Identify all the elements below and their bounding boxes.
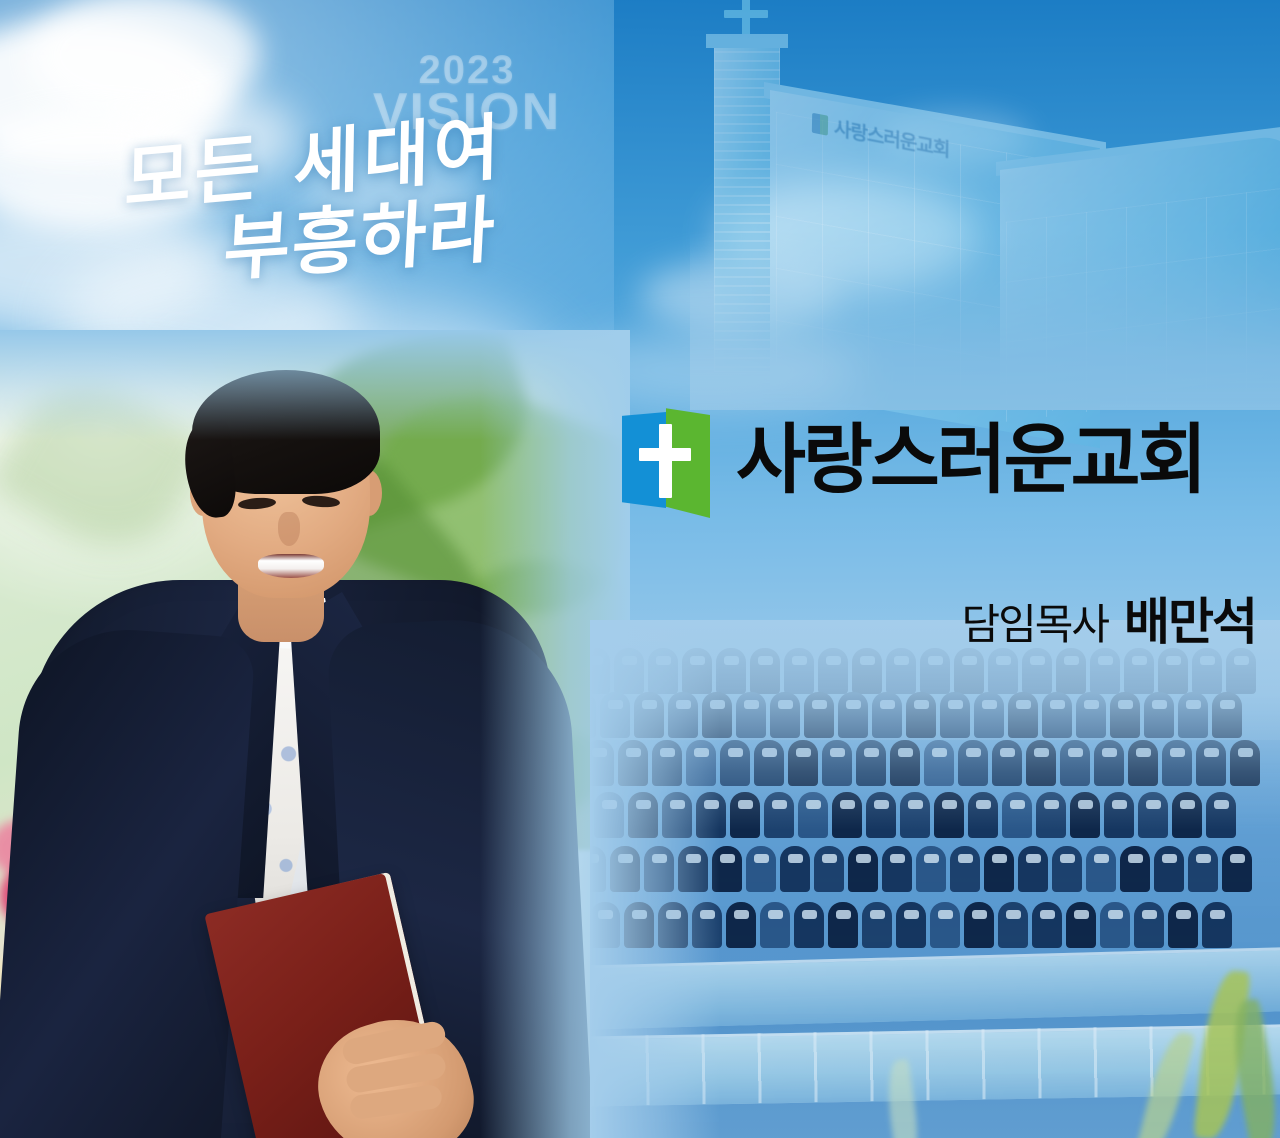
- cross-icon: [659, 424, 672, 498]
- smiling-mouth: [258, 554, 324, 578]
- tower-cross-icon: [724, 10, 768, 18]
- tower-cap: [706, 34, 788, 48]
- church-banner: 사랑스러운교회 2023 VISION 모든 세대여 부흥하라: [0, 0, 1280, 1138]
- church-building-photo: 사랑스러운교회: [690, 0, 1280, 410]
- cloud: [120, 90, 300, 185]
- cloud: [300, 160, 480, 230]
- suit-shoulder-left: [0, 623, 256, 1138]
- cross-icon: [639, 448, 691, 461]
- open-door-cross-icon: [622, 406, 708, 514]
- door-panel-green: [666, 406, 710, 518]
- vision-word: VISION: [352, 89, 582, 137]
- nose: [278, 512, 300, 546]
- pastor-credit: 담임목사 배만석: [961, 582, 1256, 654]
- building-sign-logo-icon: [812, 112, 828, 135]
- brand-lockup: 사랑스러운교회: [622, 406, 1204, 514]
- church-name: 사랑스러운교회: [736, 422, 1204, 498]
- congregation-photo: [590, 620, 1280, 1138]
- congregation-left-fade: [590, 620, 720, 1138]
- pastor-name: 배만석: [1124, 582, 1256, 654]
- building-fade: [690, 230, 1280, 410]
- pastor-portrait-photo: [0, 330, 630, 1138]
- vision-watermark: 2023 VISION: [352, 52, 582, 137]
- pastor-role: 담임목사: [961, 591, 1108, 652]
